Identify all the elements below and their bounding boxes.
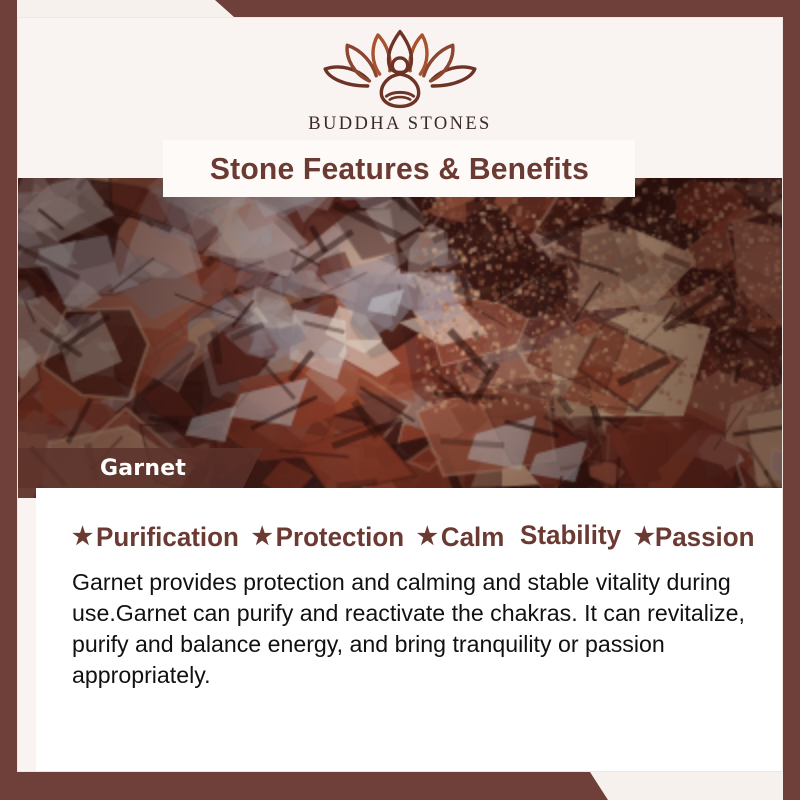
benefit-calm: ★Calm xyxy=(417,522,505,553)
benefit-label: Purification xyxy=(96,522,239,553)
benefit-label: Passion xyxy=(655,522,755,553)
benefit-protection: ★Protection xyxy=(252,522,404,553)
benefits-row: ★Purification★Protection★CalmStability★P… xyxy=(72,520,746,553)
frame-right-band xyxy=(783,0,800,800)
content-sheet: ★Purification★Protection★CalmStability★P… xyxy=(36,488,782,772)
stone-name: Garnet xyxy=(100,456,186,481)
lotus-meditation-icon xyxy=(315,26,485,112)
star-icon: ★ xyxy=(634,525,655,549)
product-info-card: BUDDHA STONES Stone Features & Benefits … xyxy=(0,0,800,800)
page-title: Stone Features & Benefits xyxy=(209,151,588,187)
title-band: Stone Features & Benefits xyxy=(163,140,635,197)
frame-bottom-band xyxy=(0,772,800,800)
frame-left-band xyxy=(0,0,17,800)
frame-top-band xyxy=(0,0,800,17)
stone-description: Garnet provides protection and calming a… xyxy=(72,567,767,691)
benefit-stability: Stability xyxy=(520,520,621,551)
star-icon: ★ xyxy=(252,525,273,549)
benefit-label: Protection xyxy=(276,522,404,553)
brand-name: BUDDHA STONES xyxy=(308,114,492,135)
benefit-passion: ★Passion xyxy=(634,522,755,553)
benefit-label: Calm xyxy=(441,522,505,553)
benefit-label: Stability xyxy=(520,520,621,551)
stone-caption-banner: Garnet xyxy=(18,448,263,488)
brand-logo-block: BUDDHA STONES xyxy=(18,18,782,148)
star-icon: ★ xyxy=(417,525,438,549)
card-page: BUDDHA STONES Stone Features & Benefits … xyxy=(18,18,782,772)
star-icon: ★ xyxy=(72,525,93,549)
benefit-purification: ★Purification xyxy=(72,522,239,553)
